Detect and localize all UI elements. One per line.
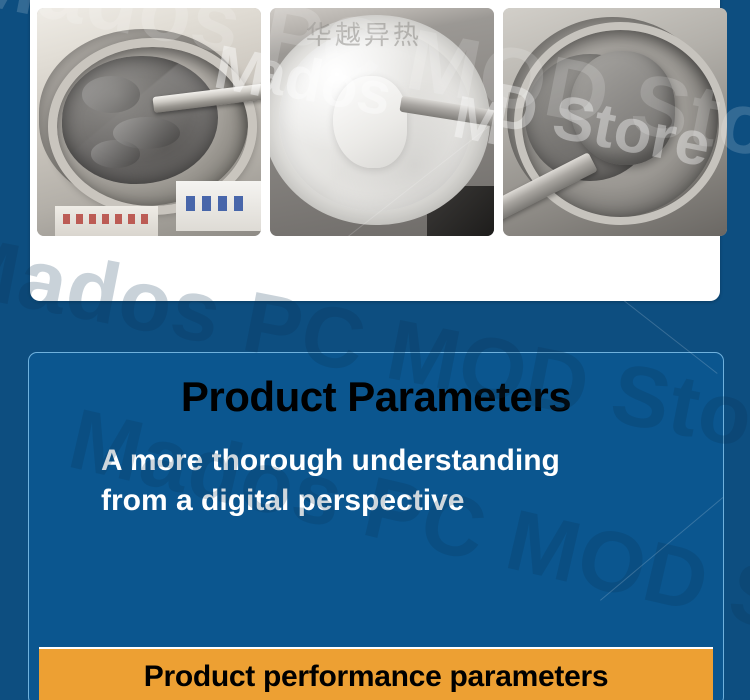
product-photo-2[interactable]: 华越异热 ados M	[270, 8, 494, 236]
page-title: Product Parameters	[29, 373, 723, 421]
photo-2-chinese-watermark: 华越异热	[306, 15, 422, 52]
parameters-subtitle: A more thorough understanding from a dig…	[101, 441, 661, 520]
photo-1-artwork	[37, 8, 261, 236]
product-photo-gallery: M 华越异热 ados M	[30, 0, 720, 301]
product-detail-page: M 华越异热 ados M	[0, 0, 750, 700]
photo-2-artwork: 华越异热	[270, 8, 494, 236]
parameters-subtitle-line-1: A more thorough understanding	[101, 441, 661, 481]
photo-row: M 华越异热 ados M	[37, 8, 727, 236]
photo-3-artwork	[503, 8, 727, 236]
parameters-subtitle-line-2: from a digital perspective	[101, 481, 661, 521]
performance-parameters-banner: Product performance parameters	[39, 647, 713, 700]
product-parameters-card: Product Parameters A more thorough under…	[28, 352, 724, 700]
product-photo-3[interactable]: D Store	[503, 8, 727, 236]
product-photo-1[interactable]: M	[37, 8, 261, 236]
performance-parameters-label: Product performance parameters	[144, 660, 609, 694]
